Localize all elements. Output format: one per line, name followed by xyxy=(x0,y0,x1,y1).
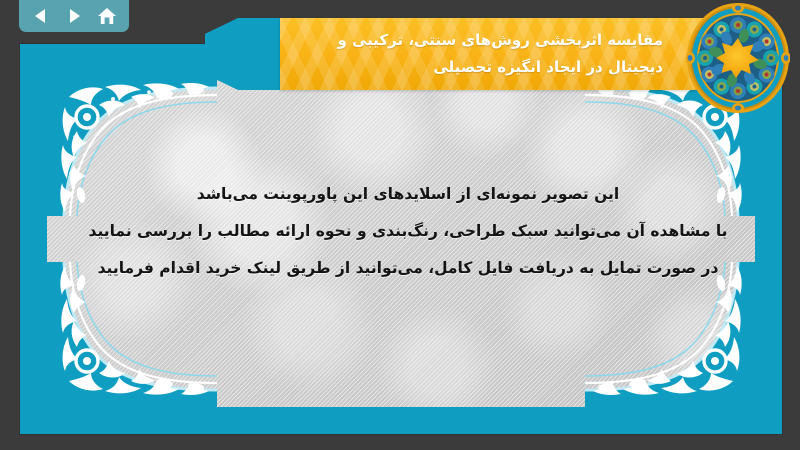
next-slide-button[interactable] xyxy=(62,5,86,27)
slide-body-text: این تصویر نمونه‌ای از اسلایدهای این پاور… xyxy=(80,176,736,287)
body-line-1: این تصویر نمونه‌ای از اسلایدهای این پاور… xyxy=(80,176,736,213)
title-band: مقایسه اثربخشی روش‌های سنتی، ترکیبی و دی… xyxy=(280,18,725,90)
triangle-left-icon xyxy=(32,7,50,25)
islamic-medallion-ornament xyxy=(686,2,790,114)
previous-slide-button[interactable] xyxy=(29,5,53,27)
home-button[interactable] xyxy=(95,5,119,27)
title-line-1: مقایسه اثربخشی روش‌های سنتی، ترکیبی و xyxy=(337,27,663,54)
presentation-slide: این تصویر نمونه‌ای از اسلایدهای این پاور… xyxy=(0,0,800,450)
slide-frame: این تصویر نمونه‌ای از اسلایدهای این پاور… xyxy=(20,44,782,434)
body-line-3: در صورت تمایل به دریافت فایل کامل، می‌تو… xyxy=(80,250,736,287)
home-icon xyxy=(97,7,117,26)
slide-navigation-bar xyxy=(19,0,129,32)
slide-title-banner: مقایسه اثربخشی روش‌های سنتی، ترکیبی و دی… xyxy=(205,18,725,90)
title-line-2: دیجیتال در ایجاد انگیزه تحصیلی xyxy=(433,54,663,81)
triangle-right-icon xyxy=(65,7,83,25)
body-line-2: با مشاهده آن می‌توانید سبک طراحی، رنگ‌بن… xyxy=(80,213,736,250)
